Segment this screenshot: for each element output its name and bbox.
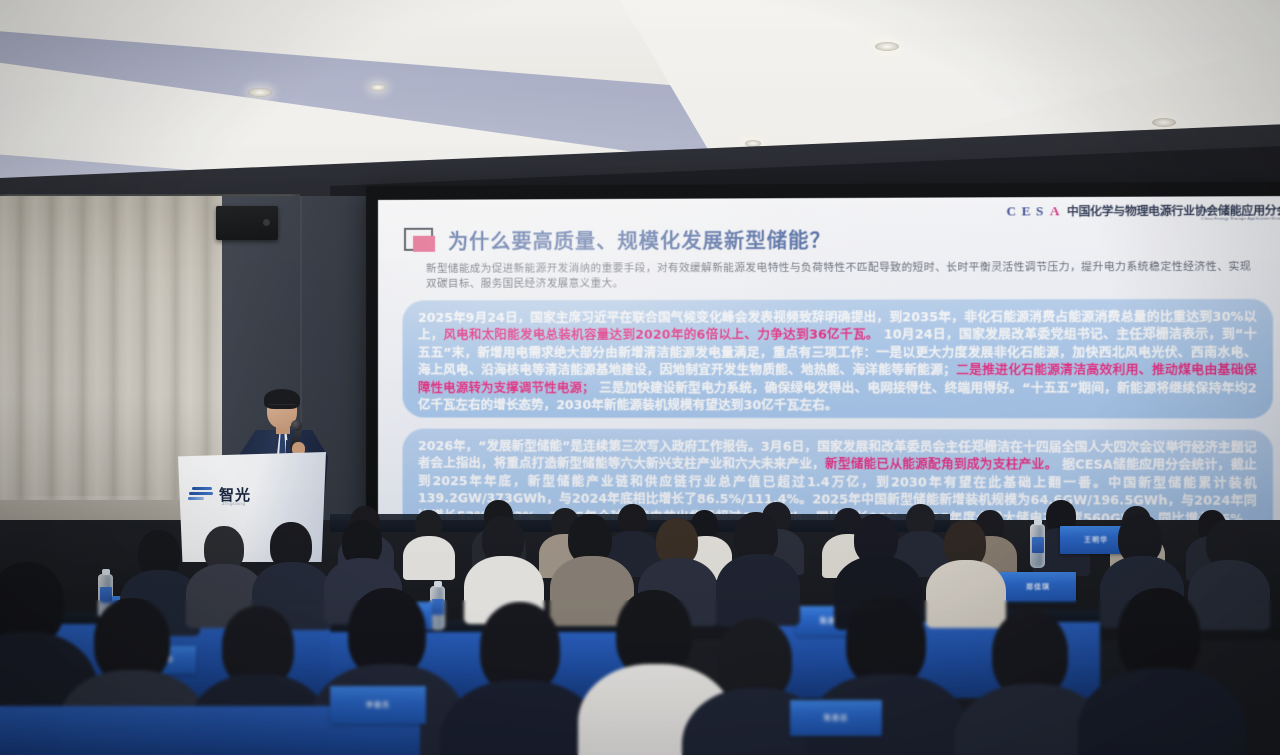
loudspeaker-icon [216,206,278,240]
cesa-header-logo: C E S A 中国化学与物理电源行业协会储能应用分会 China Energy… [1006,198,1280,224]
name-card-tent-icon: 李俊杰 [330,686,426,724]
name-card-text: 王明华 [1084,535,1108,545]
attendee-shoulders [1078,668,1246,755]
bottle-cap [102,569,110,575]
recessed-downlight-icon [248,88,272,97]
water-bottle-icon [1030,524,1045,568]
bottle-cap [1034,519,1042,525]
name-card-text: 郑佳琪 [1026,582,1050,592]
bottle-cap [434,581,442,587]
highlighted-text-run: 风电和太阳能发电总装机容量达到2020年的6倍以上、力争达到36亿千瓦。 [443,327,879,343]
attendee-shoulders [926,560,1006,628]
slide-text-block-1: 2025年9月24日，国家主席习近平在联合国气候变化峰会发表视频致辞明确提出，到… [402,298,1274,419]
glasses-icon [269,404,295,410]
name-card-text: 李俊杰 [366,700,390,710]
attendee-shoulders [716,554,800,626]
name-card-tent-icon: 陈思远 [790,700,882,736]
audience: 郑佳琪 王明华 李俊杰 陈思远 郑佳琪 王明华 [0,470,1280,755]
conference-photo-scene: C E S A 中国化学与物理电源行业协会储能应用分会 China Energy… [0,0,1280,755]
name-card-text: 陈思远 [824,713,848,723]
square-outline-icon [404,227,438,253]
loudspeaker-cone [263,219,270,226]
cesa-wordmark: C E S A [1006,203,1060,219]
attendee-shoulders [1188,560,1270,630]
attendee-shoulders [403,536,455,580]
microphone-head-icon [291,420,302,431]
slide-lead-paragraph: 新型储能成为促进新能源开发消纳的重要手段，对有效缓解新能源发电特性与负荷特性不匹… [426,260,1257,292]
recessed-downlight-icon [1152,118,1176,127]
name-card-tent-icon: 郑佳琪 [1000,572,1076,602]
pink-square-icon [413,235,435,251]
cesa-organization-name-en: China Energy Storage Application Branch [1201,215,1280,220]
slide-title: 为什么要高质量、规模化发展新型储能？ [448,224,831,254]
block-1-runs: 2025年9月24日，国家主席习近平在联合国气候变化峰会发表视频致辞明确提出，到… [418,308,1257,415]
slide-title-row: 为什么要高质量、规模化发展新型储能？ [404,224,831,255]
recessed-downlight-icon [875,42,899,51]
water-bottle-icon [430,586,445,630]
recessed-downlight-icon [370,84,386,91]
